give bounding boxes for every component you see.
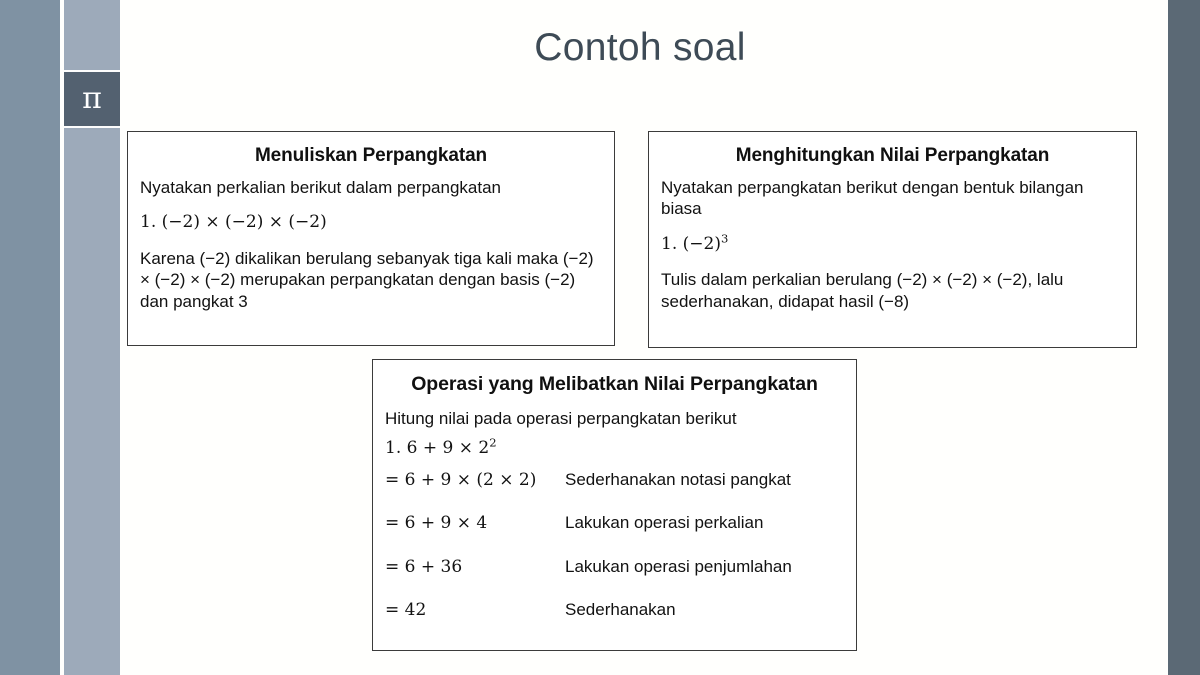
card-explanation: Tulis dalam perkalian berulang (−2) × (−… [661, 269, 1124, 312]
card-item: 1. 6 + 9 × 22 [381, 438, 848, 459]
step-expression: = 42 [385, 600, 565, 621]
card-item-base: 1. 6 + 9 × 2 [385, 438, 489, 458]
card-menuliskan-perpangkatan: Menuliskan Perpangkatan Nyatakan perkali… [127, 131, 615, 346]
step-note: Sederhanakan [565, 599, 848, 620]
card-operasi-melibatkan-nilai-perpangkatan: Operasi yang Melibatkan Nilai Perpangkat… [372, 359, 857, 651]
step-note: Sederhanakan notasi pangkat [565, 469, 848, 490]
step-expression: = 6 + 36 [385, 557, 565, 578]
card-item: 1. (−2)3 [661, 234, 1124, 255]
right-accent-bar [1168, 0, 1200, 675]
card-menghitungkan-nilai-perpangkatan: Menghitungkan Nilai Perpangkatan Nyataka… [648, 131, 1137, 348]
card-item: 1. (−2) × (−2) × (−2) [140, 212, 602, 233]
card-title: Menghitungkan Nilai Perpangkatan [661, 145, 1124, 167]
pi-logo-icon: π [64, 70, 120, 128]
card-prompt: Nyatakan perpangkatan berikut dengan ben… [661, 177, 1124, 220]
card-title: Operasi yang Melibatkan Nilai Perpangkat… [381, 373, 848, 396]
card-prompt: Nyatakan perkalian berikut dalam perpang… [140, 177, 602, 198]
solution-step-row: = 6 + 36 Lakukan operasi penjumlahan [381, 556, 848, 578]
step-expression: = 6 + 9 × (2 × 2) [385, 470, 565, 491]
solution-step-row: = 6 + 9 × (2 × 2) Sederhanakan notasi pa… [381, 469, 848, 491]
card-item-base: 1. (−2) [661, 234, 721, 254]
card-item-exponent: 2 [489, 436, 496, 450]
card-title: Menuliskan Perpangkatan [140, 145, 602, 167]
step-note: Lakukan operasi perkalian [565, 512, 848, 533]
step-expression: = 6 + 9 × 4 [385, 513, 565, 534]
slide-canvas: π Contoh soal Menuliskan Perpangkatan Ny… [0, 0, 1200, 675]
page-title: Contoh soal [160, 26, 1120, 70]
card-prompt: Hitung nilai pada operasi perpangkatan b… [381, 408, 848, 429]
left-accent-bar-outer [0, 0, 60, 675]
card-item-exponent: 3 [721, 231, 728, 245]
solution-step-row: = 6 + 9 × 4 Lakukan operasi perkalian [381, 512, 848, 534]
step-note: Lakukan operasi penjumlahan [565, 556, 848, 577]
solution-step-row: = 42 Sederhanakan [381, 599, 848, 621]
card-explanation: Karena (−2) dikalikan berulang sebanyak … [140, 248, 602, 312]
